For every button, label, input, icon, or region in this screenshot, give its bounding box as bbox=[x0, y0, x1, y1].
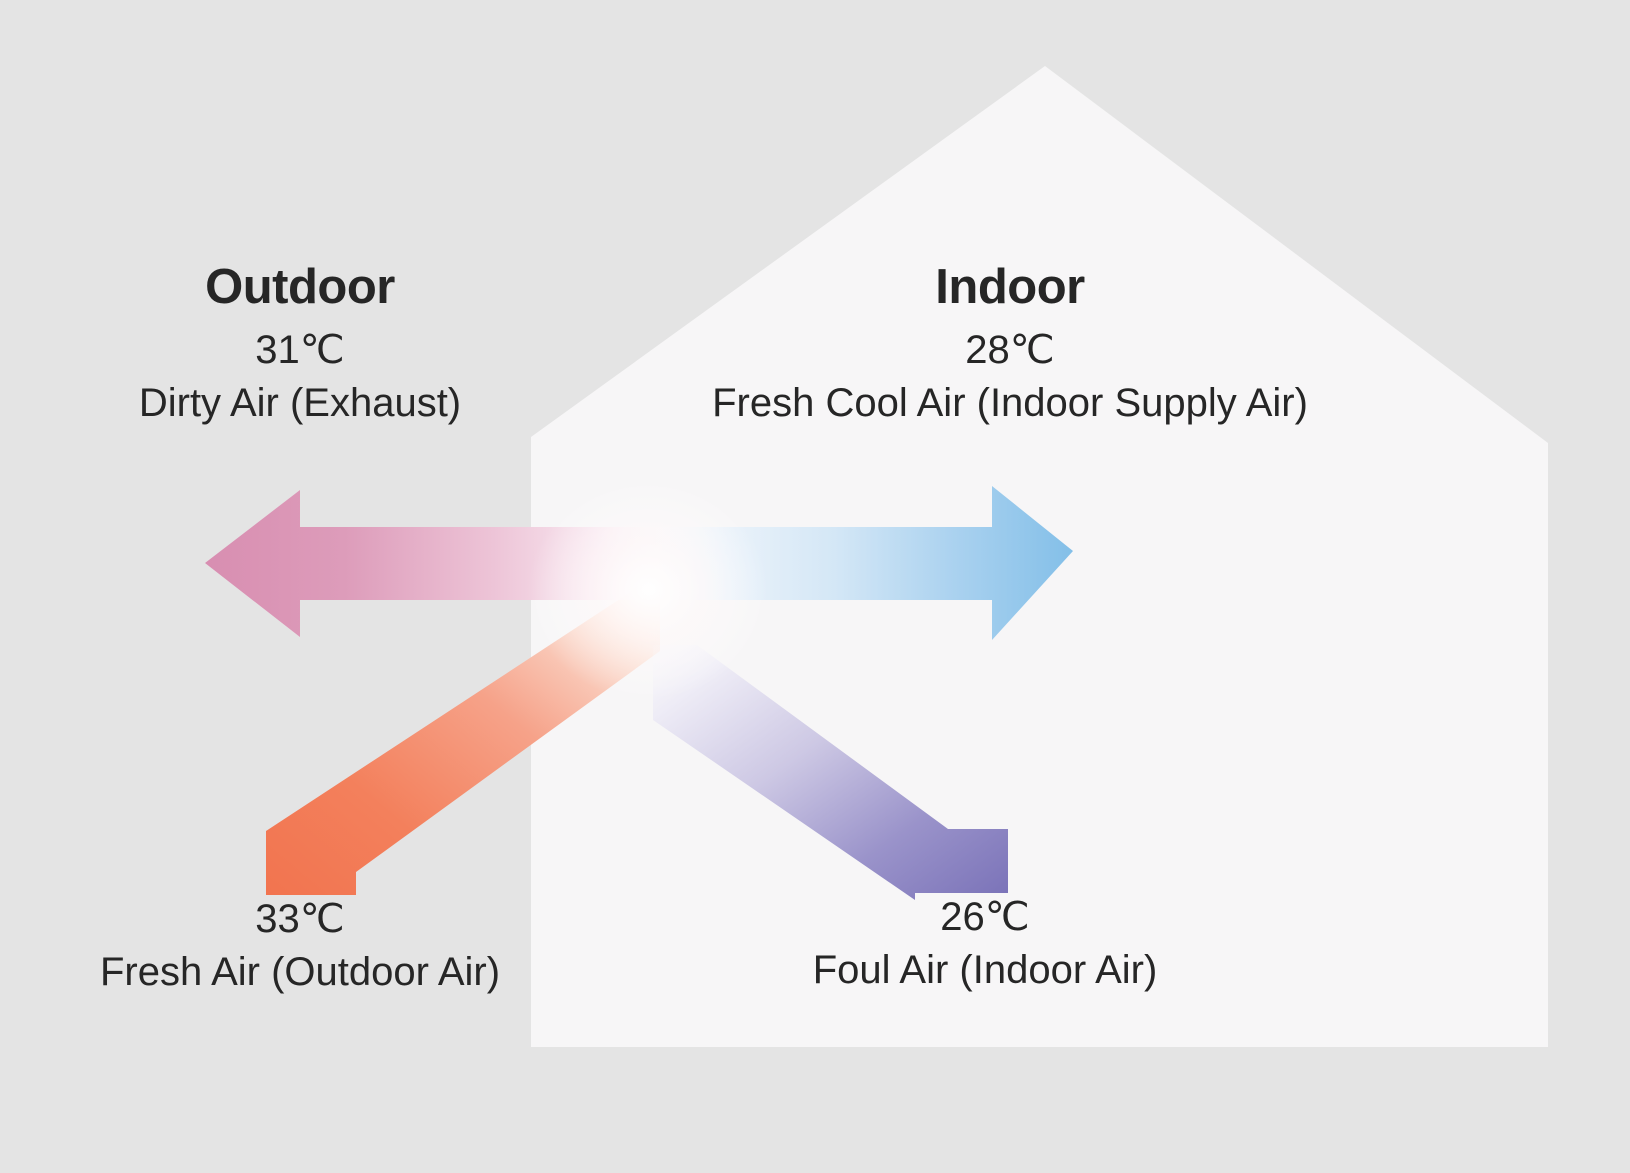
indoor-heading: Indoor bbox=[600, 258, 1420, 318]
outdoor-exhaust-label-group: Outdoor 31℃ Dirty Air (Exhaust) bbox=[30, 258, 570, 427]
indoor-return-label-group: 26℃ Foul Air (Indoor Air) bbox=[700, 893, 1270, 995]
indoor-supply-label-group: Indoor 28℃ Fresh Cool Air (Indoor Supply… bbox=[600, 258, 1420, 427]
outdoor-exhaust-description: Dirty Air (Exhaust) bbox=[30, 379, 570, 428]
outdoor-intake-description: Fresh Air (Outdoor Air) bbox=[15, 948, 585, 997]
airflow-arrows-layer bbox=[0, 0, 1630, 1173]
indoor-return-description: Foul Air (Indoor Air) bbox=[700, 946, 1270, 995]
heat-exchange-core-glow bbox=[528, 480, 768, 700]
outdoor-exhaust-temperature: 31℃ bbox=[30, 326, 570, 375]
outdoor-intake-label-group: 33℃ Fresh Air (Outdoor Air) bbox=[15, 895, 585, 997]
indoor-return-temperature: 26℃ bbox=[700, 893, 1270, 942]
outdoor-intake-temperature: 33℃ bbox=[15, 895, 585, 944]
indoor-supply-description: Fresh Cool Air (Indoor Supply Air) bbox=[600, 379, 1420, 428]
indoor-supply-temperature: 28℃ bbox=[600, 326, 1420, 375]
diagram-canvas: Outdoor 31℃ Dirty Air (Exhaust) Indoor 2… bbox=[0, 0, 1630, 1173]
outdoor-heading: Outdoor bbox=[30, 258, 570, 318]
